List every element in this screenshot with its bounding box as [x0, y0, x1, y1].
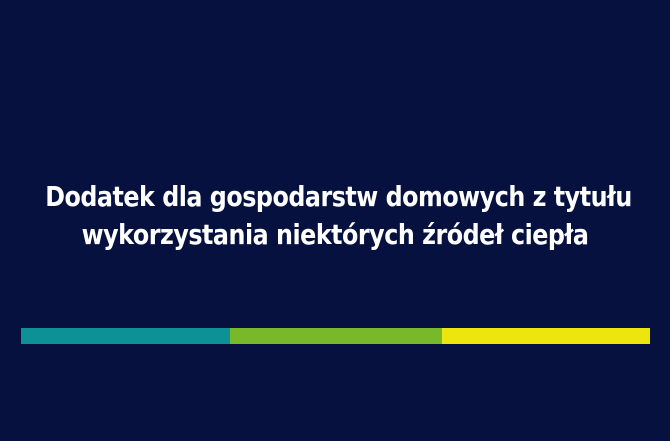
- accent-bar-segment-teal: [21, 328, 230, 344]
- title-slide: Dodatek dla gospodarstw domowych z tytuł…: [0, 0, 670, 441]
- accent-bar-segment-green: [230, 328, 442, 344]
- accent-bar-segment-yellow: [442, 328, 650, 344]
- title-line-2: wykorzystania niektórych źródeł ciepła: [45, 216, 625, 254]
- title-line-1: Dodatek dla gospodarstw domowych z tytuł…: [45, 178, 625, 216]
- accent-bar: [21, 328, 650, 344]
- page-title: Dodatek dla gospodarstw domowych z tytuł…: [0, 178, 670, 254]
